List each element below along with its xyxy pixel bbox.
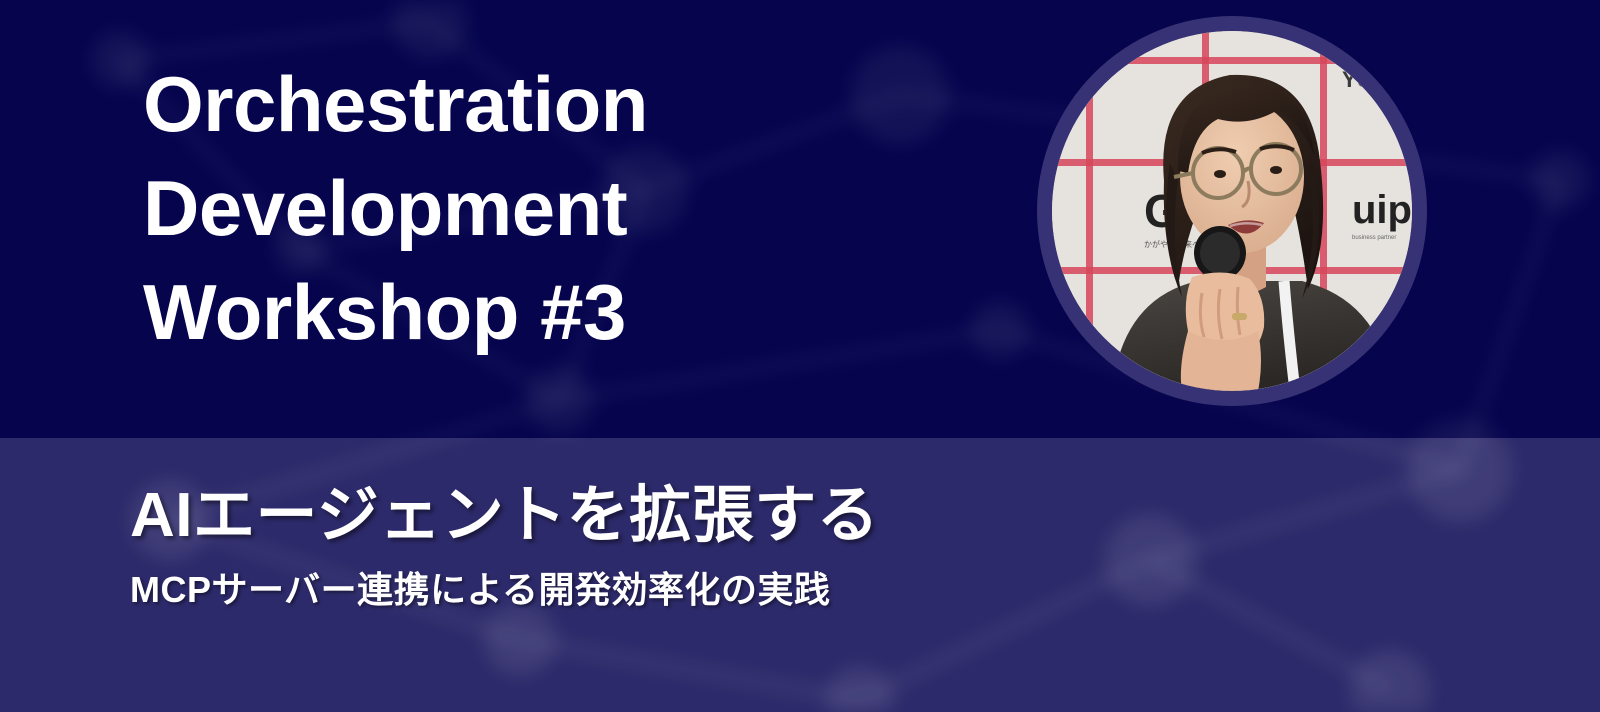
title-line-2: Development (143, 156, 648, 260)
japanese-headline: AIエージェントを拡張する (130, 480, 879, 552)
avatar: YUM G かがやく未来へ uip business partner (1037, 16, 1427, 406)
svg-text:business partner: business partner (1352, 235, 1396, 241)
japanese-subtitle: MCPサーバー連携による開発効率化の実践 (130, 568, 879, 612)
japanese-copy-block: AIエージェントを拡張する MCPサーバー連携による開発効率化の実践 (130, 480, 879, 612)
title-line-3: Workshop #3 (143, 260, 648, 364)
speaker-photo: YUM G かがやく未来へ uip business partner (1052, 31, 1412, 391)
page-title: Orchestration Development Workshop #3 (143, 52, 648, 364)
speaker-photo-illustration: YUM G かがやく未来へ uip business partner (1052, 31, 1412, 391)
svg-text:uip: uip (1352, 188, 1412, 232)
event-banner: Orchestration Development Workshop #3 (0, 0, 1600, 712)
title-line-1: Orchestration (143, 52, 648, 156)
